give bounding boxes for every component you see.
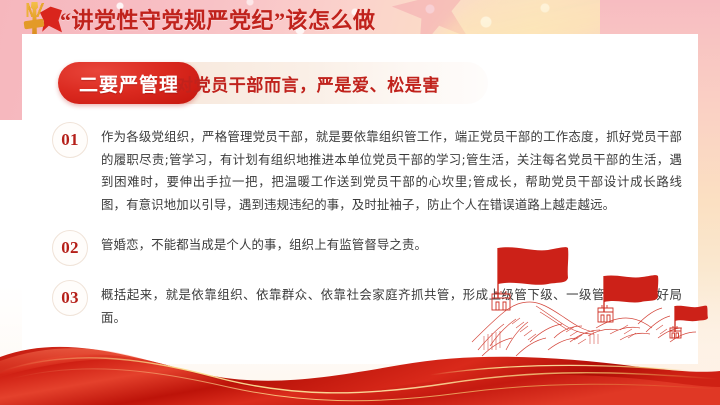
list-item-number-circle: 01 [52, 122, 88, 158]
list-item-text: 概括起来，就是依靠组织、依靠群众、依靠社会家庭齐抓共管，形成上级管下级、一级管一… [101, 284, 682, 329]
slide-canvas: “讲党性守党规严党纪”该怎么做 二要严管理 对党员干部而言，严是爱、松是害 01… [0, 0, 720, 405]
list-item-number: 03 [61, 288, 79, 308]
list-item-number: 02 [61, 238, 79, 258]
list-item-text: 作为各级党组织，严格管理党员干部，就是要依靠组织管工作，端正党员干部的工作态度，… [101, 126, 682, 216]
page-title: “讲党性守党规严党纪”该怎么做 [60, 3, 376, 35]
torch-base-shape [24, 19, 45, 30]
numbered-list: 01 作为各级党组织，严格管理党员干部，就是要依靠组织管工作，端正党员干部的工作… [52, 126, 682, 348]
torch-rays-shape [22, 3, 48, 17]
list-item-text: 管婚恋，不能都当成是个人的事，组织上有监管督导之责。 [101, 234, 682, 257]
list-item: 01 作为各级党组织，严格管理党员干部，就是要依靠组织管工作，端正党员干部的工作… [52, 126, 682, 216]
section-subtitle: 对党员干部而言，严是爱、松是害 [176, 62, 440, 104]
section-pill-label: 二要严管理 [79, 70, 179, 97]
content-card: 二要严管理 对党员干部而言，严是爱、松是害 01 作为各级党组织，严格管理党员干… [22, 34, 698, 364]
list-item: 02 管婚恋，不能都当成是个人的事，组织上有监管督导之责。 [52, 234, 682, 266]
list-item: 03 概括起来，就是依靠组织、依靠群众、依靠社会家庭齐抓共管，形成上级管下级、一… [52, 284, 682, 329]
list-item-number-circle: 03 [52, 280, 88, 316]
list-item-number-circle: 02 [52, 230, 88, 266]
list-item-number: 01 [61, 130, 79, 150]
torch-ribbon-emblem-icon [22, 2, 62, 38]
section-banner: 二要严管理 对党员干部而言，严是爱、松是害 [58, 62, 488, 104]
